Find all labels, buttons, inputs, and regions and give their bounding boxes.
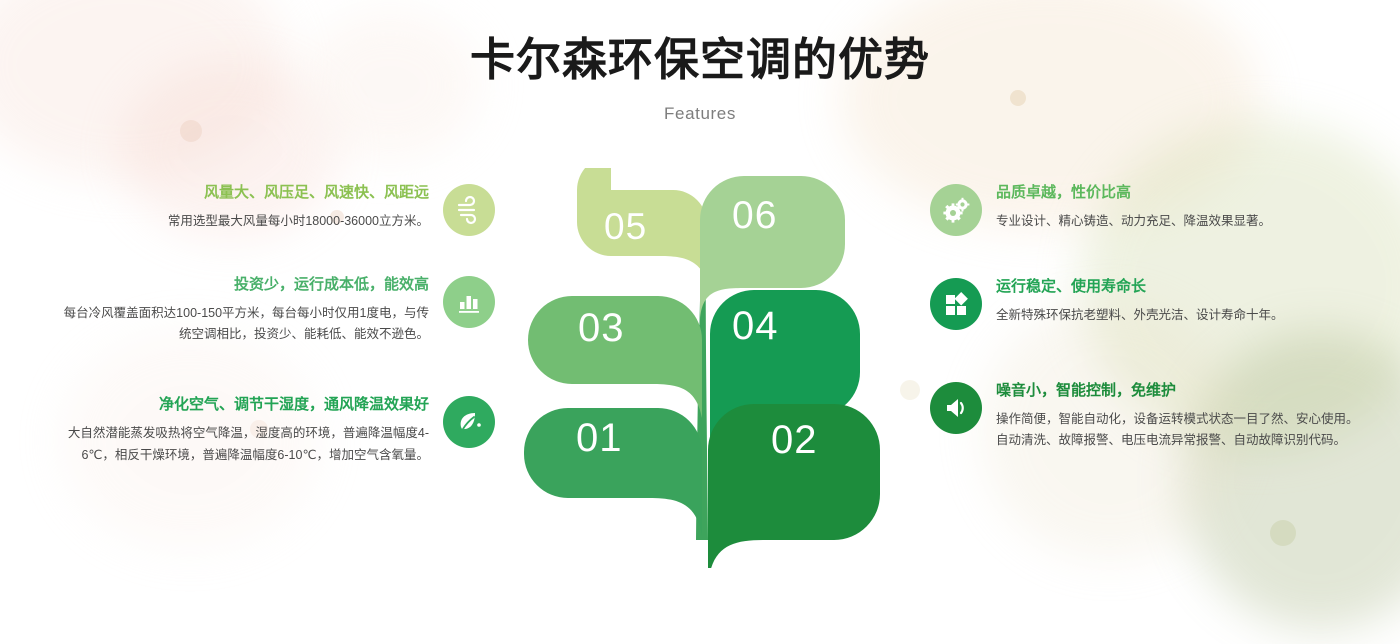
speaker-icon — [930, 382, 982, 434]
bar-chart-icon-glyph — [454, 287, 484, 317]
feature-description: 每台冷风覆盖面积达100-150平方米，每台每小时仅用1度电，与传统空调相比，投… — [55, 303, 429, 347]
gears-icon-glyph — [941, 195, 971, 225]
feature-item-stability: 运行稳定、使用寿命长 全新特殊环保抗老塑料、外壳光洁、设计寿命十年。 — [930, 276, 1370, 330]
gears-icon — [930, 184, 982, 236]
feature-item-low-noise: 噪音小，智能控制，免维护 操作简便，智能自动化，设备运转模式状态一目了然、安心使… — [930, 380, 1370, 452]
feature-text: 品质卓越，性价比高 专业设计、精心铸造、动力充足、降温效果显著。 — [982, 182, 1370, 232]
feature-text: 投资少，运行成本低，能效高 每台冷风覆盖面积达100-150平方米，每台每小时仅… — [55, 274, 443, 346]
feature-title: 风量大、风压足、风速快、风距远 — [55, 182, 429, 205]
feature-title: 品质卓越，性价比高 — [996, 182, 1370, 205]
grid-squares-icon — [930, 278, 982, 330]
bar-chart-icon — [443, 276, 495, 328]
speaker-icon-glyph — [941, 393, 971, 423]
page-title: 卡尔森环保空调的优势 — [0, 34, 1400, 86]
feature-description: 常用选型最大风量每小时18000-36000立方米。 — [55, 211, 429, 233]
feature-item-wind: 风量大、风压足、风速快、风距远 常用选型最大风量每小时18000-36000立方… — [55, 182, 495, 236]
leaf-number-05: 05 — [604, 208, 647, 245]
feature-title: 净化空气、调节干湿度，通风降温效果好 — [55, 394, 429, 417]
feature-description: 全新特殊环保抗老塑料、外壳光洁、设计寿命十年。 — [996, 305, 1370, 327]
feature-item-investment: 投资少，运行成本低，能效高 每台冷风覆盖面积达100-150平方米，每台每小时仅… — [55, 274, 495, 346]
eco-leaf-icon-glyph — [454, 407, 484, 437]
leaf-cluster-svg — [516, 168, 896, 568]
leaf-number-04: 04 — [732, 306, 779, 346]
leaf-number-06: 06 — [732, 196, 777, 235]
feature-text: 净化空气、调节干湿度，通风降温效果好 大自然潜能蒸发吸热将空气降温，湿度高的环境… — [55, 394, 443, 466]
header: 卡尔森环保空调的优势 Features — [0, 34, 1400, 124]
leaf-number-03: 03 — [578, 308, 625, 348]
background-speck — [1270, 520, 1296, 546]
left-feature-column: 风量大、风压足、风速快、风距远 常用选型最大风量每小时18000-36000立方… — [55, 182, 495, 467]
feature-description: 专业设计、精心铸造、动力充足、降温效果显著。 — [996, 211, 1370, 233]
leaf-cluster-diagram: 05 06 03 04 01 02 — [516, 168, 896, 568]
right-feature-column: 品质卓越，性价比高 专业设计、精心铸造、动力充足、降温效果显著。 运行稳定、使用… — [930, 182, 1370, 452]
feature-text: 运行稳定、使用寿命长 全新特殊环保抗老塑料、外壳光洁、设计寿命十年。 — [982, 276, 1370, 326]
wind-icon-glyph — [454, 195, 484, 225]
wind-icon — [443, 184, 495, 236]
leaf-number-01: 01 — [576, 418, 623, 458]
leaf-number-02: 02 — [771, 420, 818, 460]
feature-description: 大自然潜能蒸发吸热将空气降温，湿度高的环境，普遍降温幅度4-6℃，相反干燥环境，… — [55, 423, 429, 467]
background-speck — [900, 380, 920, 400]
feature-title: 噪音小，智能控制，免维护 — [996, 380, 1370, 403]
grid-squares-icon-glyph — [941, 289, 971, 319]
feature-description: 操作简便，智能自动化，设备运转模式状态一目了然、安心使用。自动清洗、故障报警、电… — [996, 409, 1370, 453]
feature-title: 投资少，运行成本低，能效高 — [55, 274, 429, 297]
page-subtitle: Features — [0, 104, 1400, 124]
feature-title: 运行稳定、使用寿命长 — [996, 276, 1370, 299]
feature-item-air-purify: 净化空气、调节干湿度，通风降温效果好 大自然潜能蒸发吸热将空气降温，湿度高的环境… — [55, 394, 495, 466]
feature-item-quality: 品质卓越，性价比高 专业设计、精心铸造、动力充足、降温效果显著。 — [930, 182, 1370, 236]
eco-leaf-icon — [443, 396, 495, 448]
feature-text: 风量大、风压足、风速快、风距远 常用选型最大风量每小时18000-36000立方… — [55, 182, 443, 232]
feature-text: 噪音小，智能控制，免维护 操作简便，智能自动化，设备运转模式状态一目了然、安心使… — [982, 380, 1370, 452]
